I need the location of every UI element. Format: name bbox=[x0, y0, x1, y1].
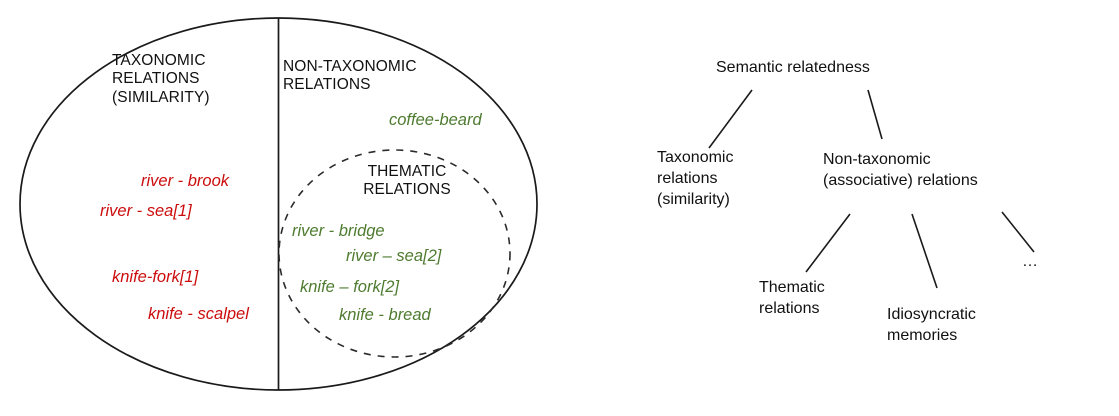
taxonomic-example-river-brook: river - brook bbox=[141, 172, 229, 191]
thematic-example-knife-fork-2: knife – fork[2] bbox=[300, 278, 399, 297]
non-taxonomic-example-coffee-beard: coffee-beard bbox=[389, 111, 482, 130]
taxonomic-example-knife-fork-1: knife-fork[1] bbox=[112, 268, 198, 287]
taxonomic-example-river-sea-1: river - sea[1] bbox=[100, 202, 192, 221]
semantic-relatedness-figure: TAXONOMIC RELATIONS (SIMILARITY) NON-TAX… bbox=[0, 0, 1119, 416]
outer-ellipse bbox=[20, 18, 537, 390]
edge-root-nontaxonomic bbox=[868, 90, 882, 139]
tree-node-thematic-relations: Thematic relations bbox=[759, 278, 825, 320]
taxonomic-example-knife-scalpel: knife - scalpel bbox=[148, 305, 249, 324]
tree-node-idiosyncratic-memories: Idiosyncratic memories bbox=[887, 305, 976, 347]
edge-nontax-thematic bbox=[806, 214, 850, 272]
venn-caption-thematic: THEMATIC RELATIONS bbox=[352, 163, 462, 200]
venn-caption-non-taxonomic: NON-TAXONOMIC RELATIONS bbox=[283, 58, 417, 95]
thematic-example-knife-bread: knife - bread bbox=[339, 306, 431, 325]
thematic-example-river-bridge: river - bridge bbox=[292, 222, 385, 241]
tree-node-semantic-relatedness: Semantic relatedness bbox=[716, 58, 870, 79]
tree-node-ellipsis: … bbox=[1022, 252, 1039, 273]
thematic-example-river-sea-2: river – sea[2] bbox=[346, 247, 441, 266]
venn-caption-taxonomic: TAXONOMIC RELATIONS (SIMILARITY) bbox=[112, 52, 210, 107]
tree-node-taxonomic-relations: Taxonomic relations (similarity) bbox=[657, 148, 733, 210]
edge-root-taxonomic bbox=[709, 90, 752, 148]
tree-node-non-taxonomic-relations: Non-taxonomic (associative) relations bbox=[823, 150, 978, 192]
edge-nontax-idiosyncratic bbox=[912, 214, 937, 288]
edge-nontax-ellipsis bbox=[1002, 212, 1034, 252]
